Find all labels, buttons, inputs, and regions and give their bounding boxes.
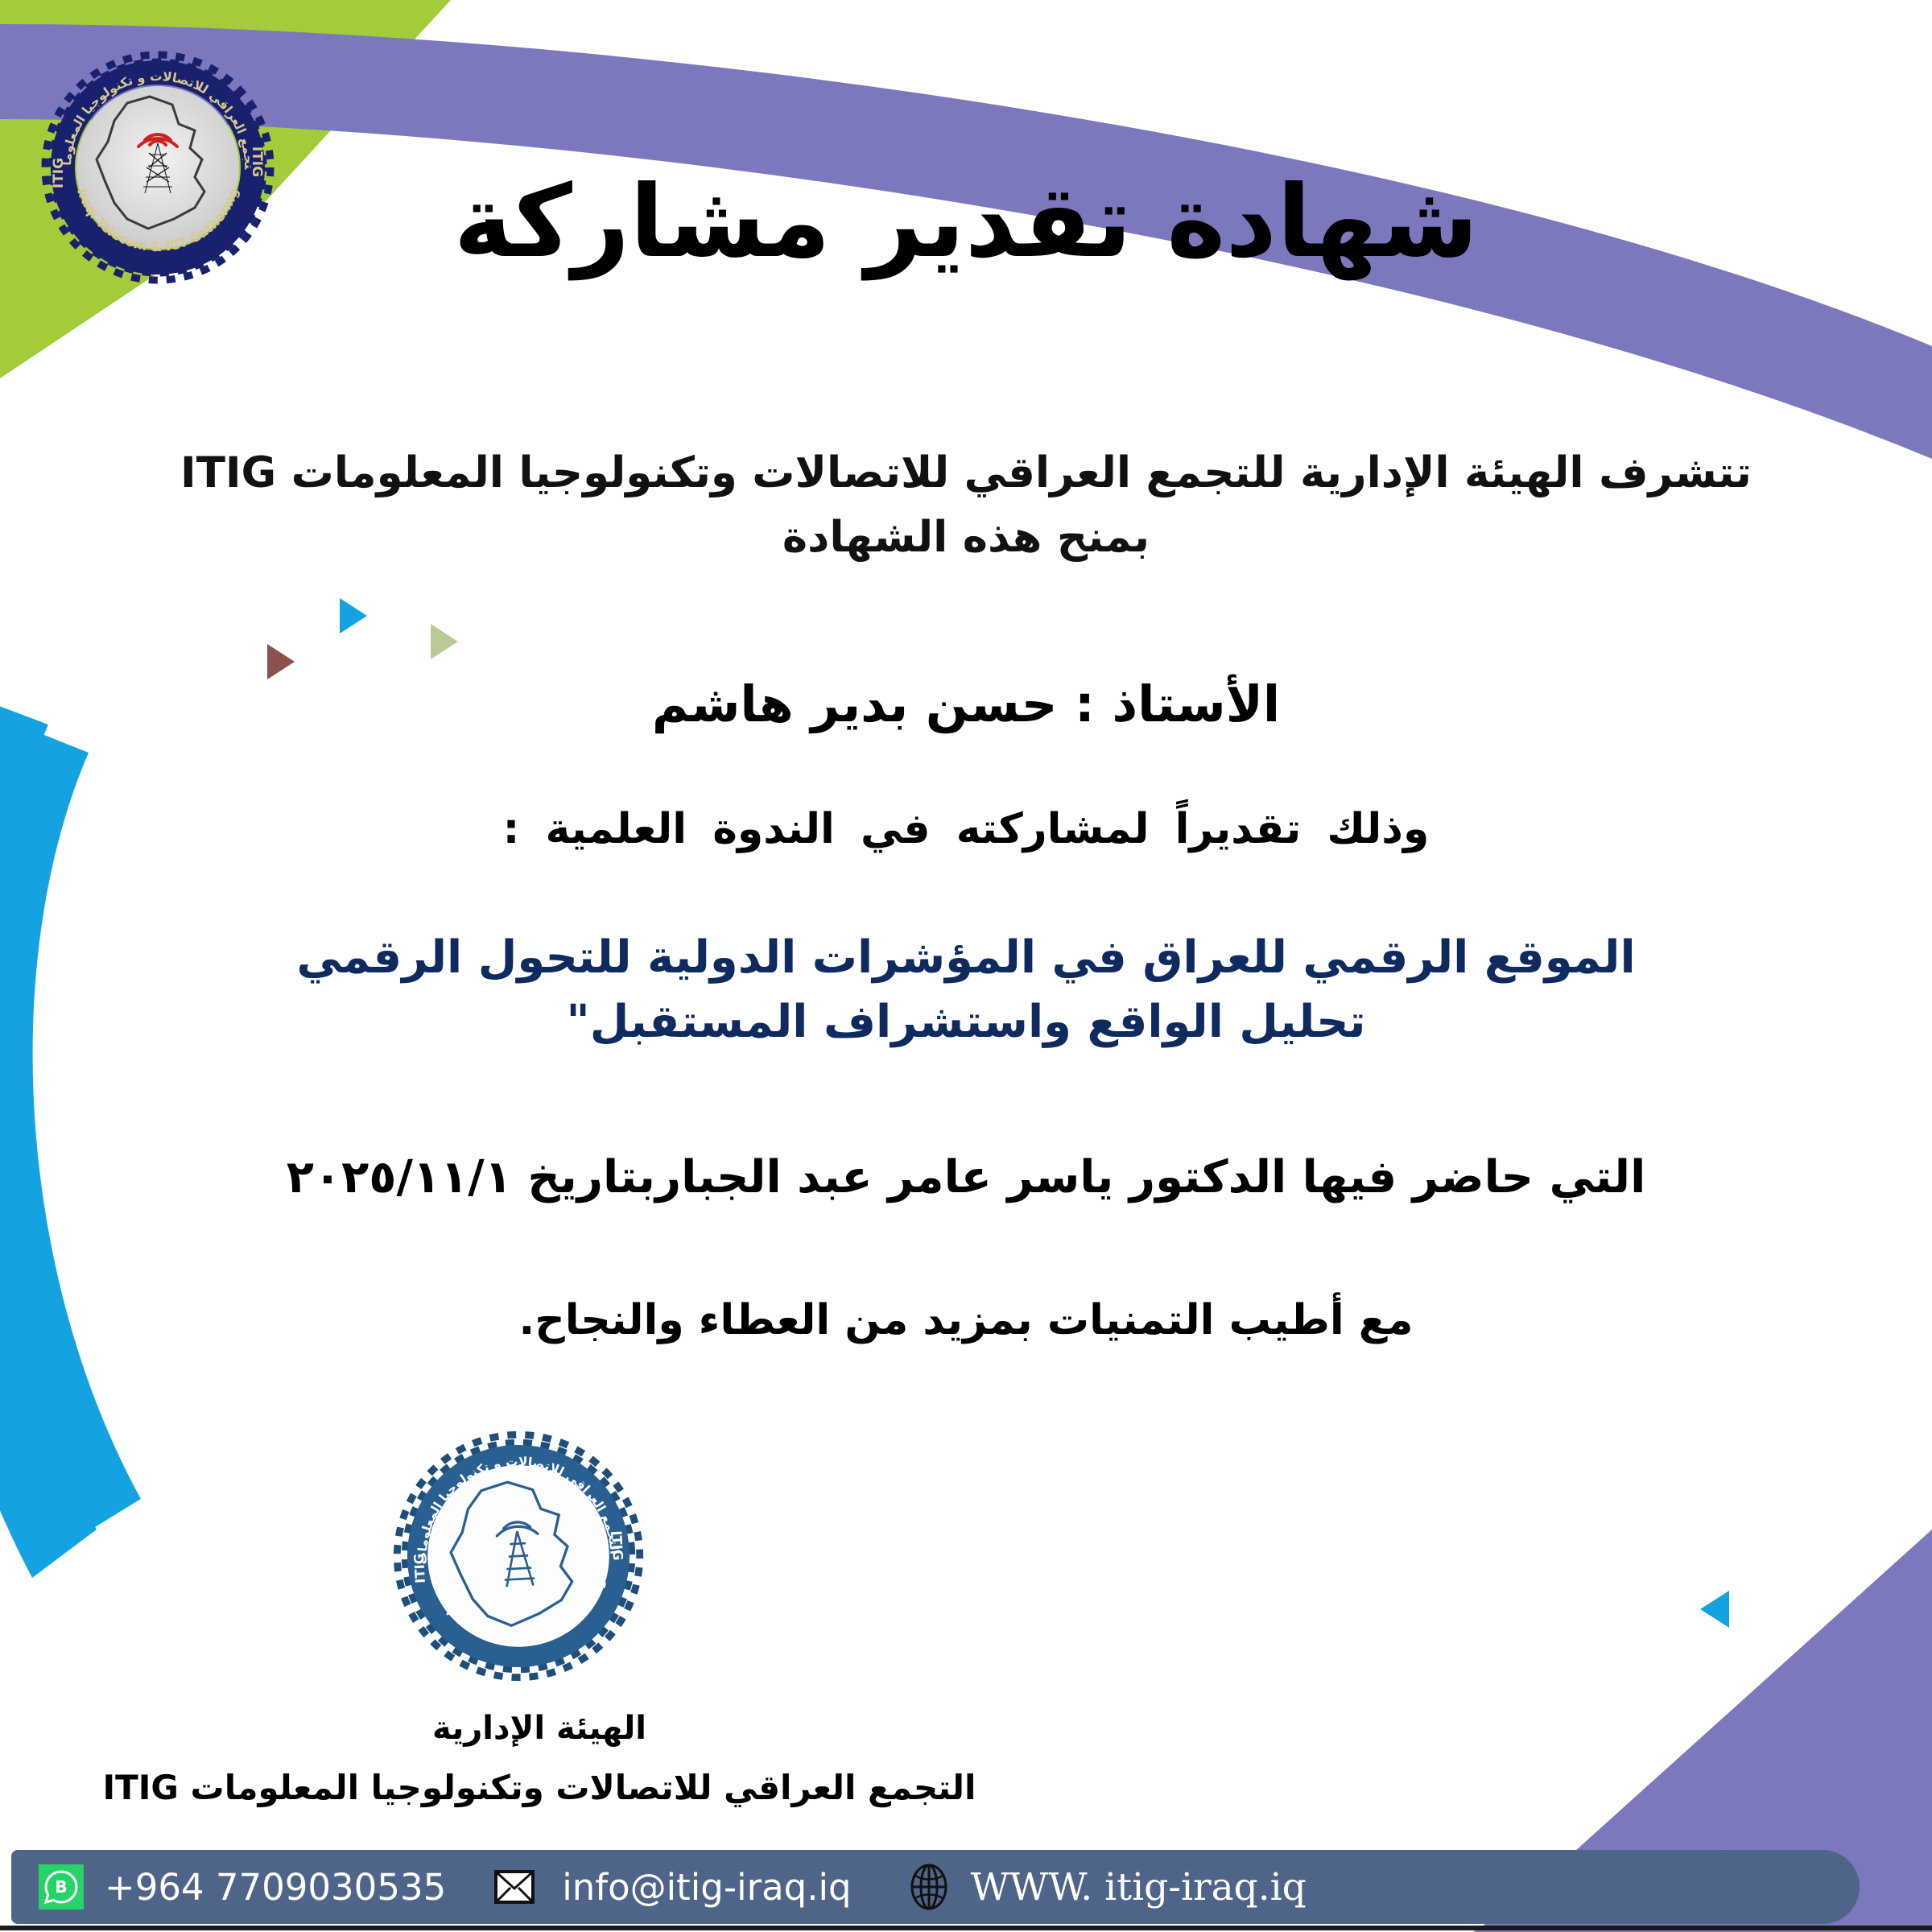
- bottom-rule: [0, 1926, 1932, 1930]
- seminar-title: الموقع الرقمي للعراق في المؤشرات الدولية…: [113, 926, 1819, 1054]
- whatsapp-business-icon[interactable]: B: [39, 1864, 84, 1909]
- globe-icon[interactable]: [908, 1864, 950, 1910]
- closing-wishes: مع أطيب التمنيات بمزيد من العطاء والنجاح…: [0, 1296, 1932, 1344]
- signature-line-2: التجمع العراقي للاتصالات وتكنولوجيا المع…: [0, 1768, 1079, 1807]
- intro-paragraph: تتشرف الهيئة الإدارية للتجمع العراقي للا…: [105, 441, 1827, 569]
- svg-text:B: B: [55, 1877, 67, 1897]
- page-title: شهادة تقدير مشاركة: [0, 167, 1932, 277]
- award-reason: وذلك تقديراً لمشاركته في الندوة العلمية …: [0, 805, 1932, 853]
- intro-line-2: بمنح هذه الشهادة: [105, 506, 1827, 570]
- certificate-body: شهادة تقدير مشاركة تتشرف الهيئة الإدارية…: [0, 0, 1932, 1932]
- certificate-page: التجمع العراقي للاتصالات و تكنولوجيا الم…: [0, 0, 1932, 1932]
- website-url[interactable]: WWW. itig-iraq.iq: [971, 1865, 1307, 1909]
- lecturer-and-date: التي حاضر فيها الدكتور ياسر عامر عبد الج…: [48, 1151, 1884, 1203]
- email-address[interactable]: info@itig-iraq.iq: [562, 1866, 851, 1909]
- seminar-title-line-2: تحليل الواقع واستشراف المستقبل": [113, 990, 1819, 1055]
- footer-contact-bar: B +964 7709030535 info@itig-iraq.iq WWW.…: [11, 1850, 1860, 1924]
- signature-line-1: الهيئة الإدارية: [0, 1710, 1079, 1747]
- recipient-name: الأستاذ : حسن بدير هاشم: [0, 675, 1932, 733]
- whatsapp-contact[interactable]: B +964 7709030535: [39, 1864, 446, 1909]
- phone-number[interactable]: +964 7709030535: [105, 1866, 446, 1909]
- seminar-title-line-1: الموقع الرقمي للعراق في المؤشرات الدولية…: [113, 926, 1819, 990]
- email-contact[interactable]: info@itig-iraq.iq: [446, 1866, 862, 1909]
- website-contact[interactable]: WWW. itig-iraq.iq: [863, 1864, 1307, 1910]
- intro-line-1: تتشرف الهيئة الإدارية للتجمع العراقي للا…: [105, 441, 1827, 506]
- envelope-icon[interactable]: [494, 1870, 535, 1904]
